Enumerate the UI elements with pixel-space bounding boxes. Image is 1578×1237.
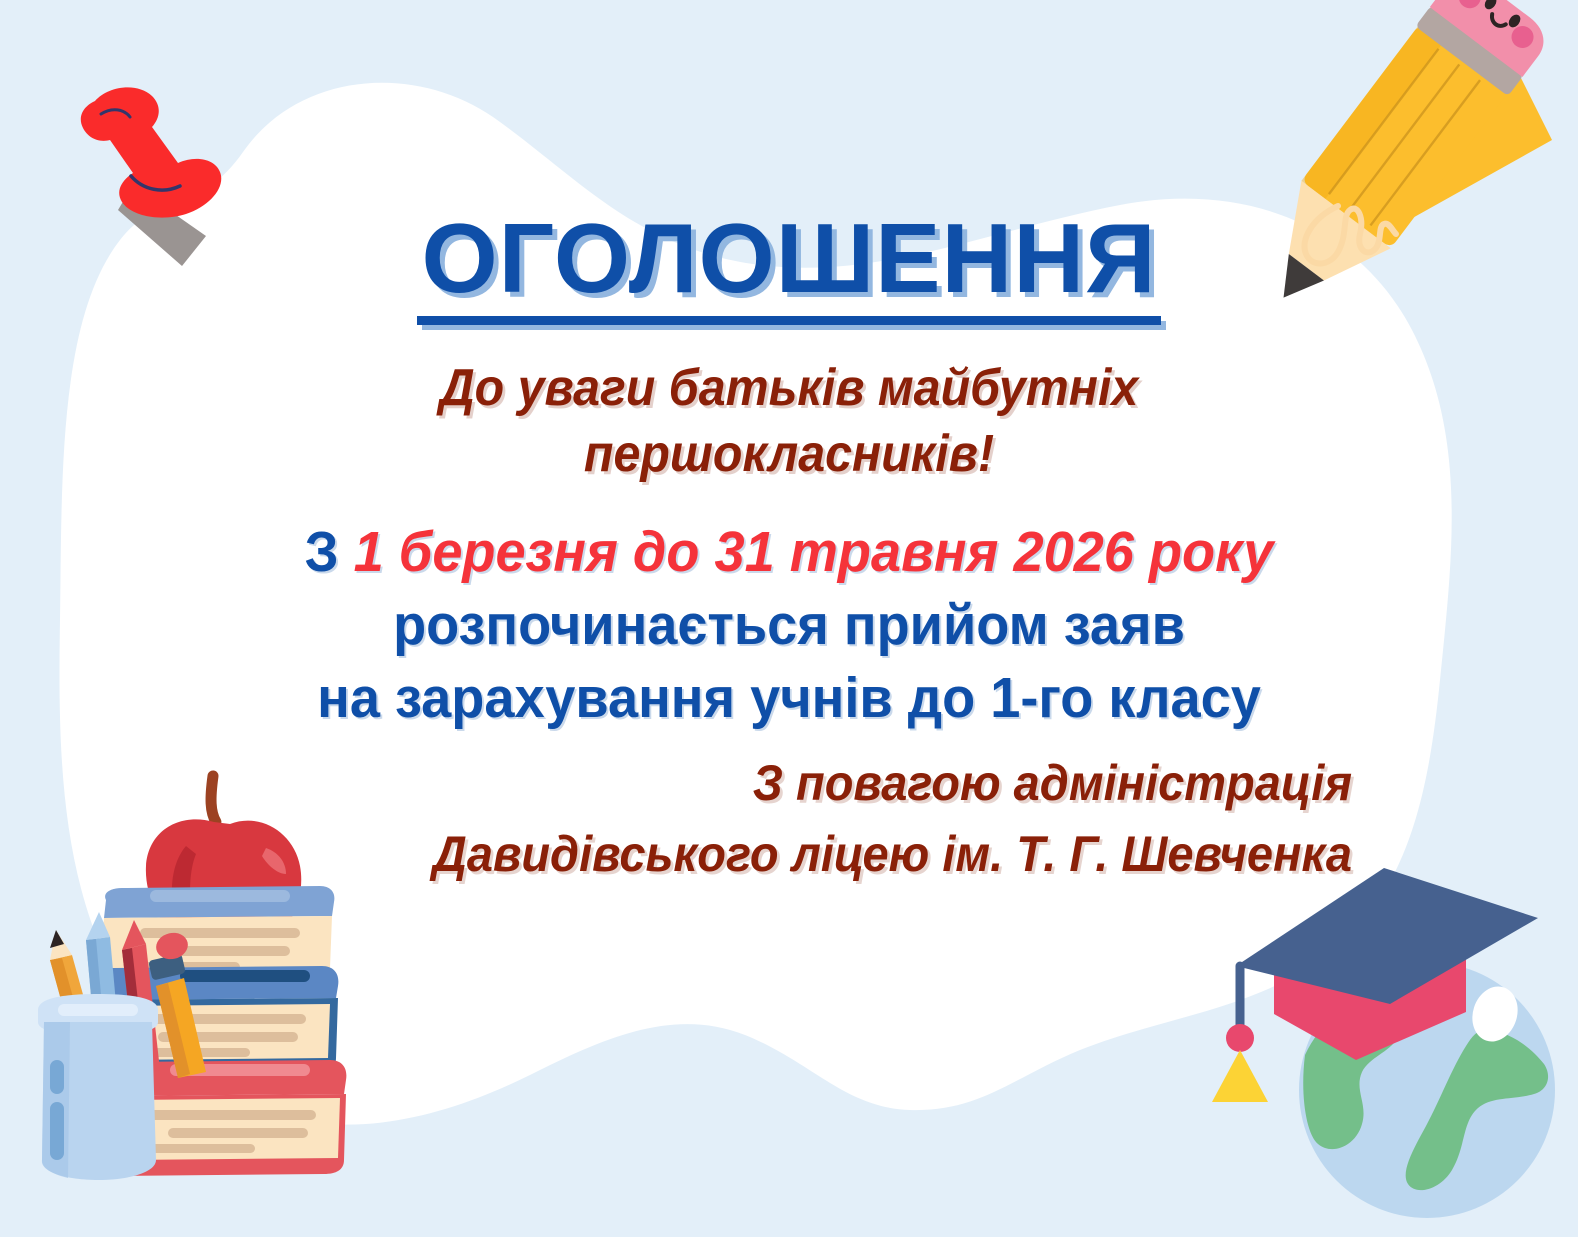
title-container: ОГОЛОШЕННЯ [0, 208, 1578, 325]
body-line-1-prefix: З [305, 520, 354, 584]
body-line-3: на зарахування учнів до 1-го класу [39, 662, 1538, 735]
subtitle-line-2: першокласників! [55, 421, 1523, 487]
subtitle: До уваги батьків майбутніх першокласникі… [55, 355, 1523, 487]
page-title: ОГОЛОШЕННЯ [417, 208, 1160, 325]
subtitle-line-1: До уваги батьків майбутніх [55, 355, 1523, 421]
signature-line-1: З повагою адміністрація [81, 748, 1352, 819]
announcement-poster: ОГОЛОШЕННЯ До уваги батьків майбутніх пе… [0, 0, 1578, 1237]
book-top-band [150, 890, 290, 902]
cup-stripe-2 [50, 1102, 64, 1160]
body-line-1: З 1 березня до 31 травня 2026 року [39, 516, 1538, 589]
announcement-body: З 1 березня до 31 травня 2026 року розпо… [0, 516, 1578, 735]
globe-graduation-cap-icon [1212, 868, 1555, 1218]
cap-tassel-bead [1226, 1024, 1254, 1052]
signature-line-2: Давидівського ліцею ім. Т. Г. Шевченка [81, 819, 1352, 890]
cap-tassel [1212, 1050, 1268, 1102]
book-middle-band [180, 970, 310, 982]
cup-highlight [58, 1004, 138, 1016]
body-line-2: розпочинається прийом заяв [39, 589, 1538, 662]
body-line-1-dates: 1 березня до 31 травня 2026 року [354, 520, 1274, 584]
pin-head [81, 87, 221, 217]
cup-stripe-1 [50, 1060, 64, 1094]
signature-block: З повагою адміністрація Давидівського лі… [0, 748, 1578, 890]
